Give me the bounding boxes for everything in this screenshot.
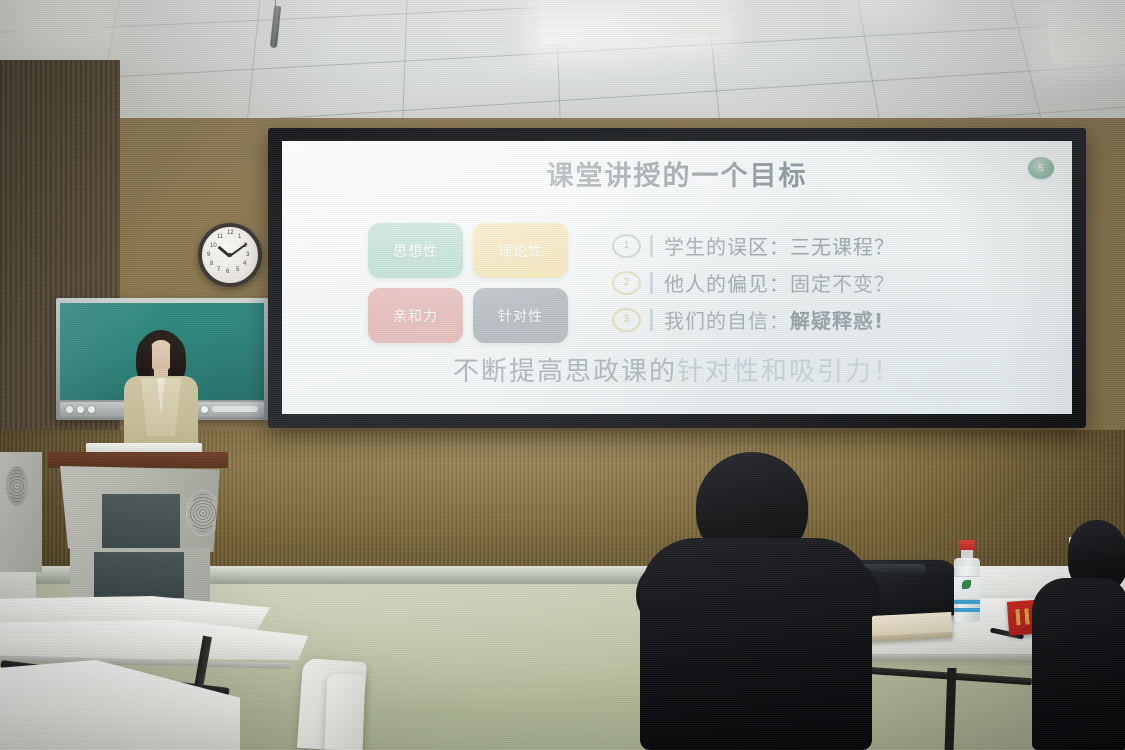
clock-numeral: 10 xyxy=(210,243,217,249)
lectern-body xyxy=(60,466,220,552)
bottle-stripe xyxy=(954,600,980,604)
clock-numeral: 9 xyxy=(207,252,210,258)
clock-numeral: 7 xyxy=(217,267,220,273)
whiteboard-button-icon[interactable] xyxy=(66,406,73,413)
bullet-text: 我们的自信：解疑释惑! xyxy=(664,305,884,334)
slide-bullet-row: 2 他人的偏见：固定不变？ xyxy=(612,264,1022,301)
lectern-front-panel xyxy=(102,494,180,550)
bullet-emphasis: 三无课程？ xyxy=(790,235,895,259)
bullet-emphasis: 解疑释惑! xyxy=(790,309,884,333)
slide-bullet-list: 1 学生的误区：三无课程？ 2 他人的偏见：固定不变？ 3 我们的自信：解疑释惑… xyxy=(612,227,1022,338)
lectern-base-panel xyxy=(94,552,184,598)
bullet-number-badge: 1 xyxy=(612,234,641,258)
keyword-box: 理论性 xyxy=(473,223,568,278)
bullet-prefix: 他人的偏见： xyxy=(664,272,790,296)
classroom-photo: 12 1 2 3 4 5 6 7 8 9 10 11 xyxy=(0,0,1125,750)
student-desk xyxy=(0,620,308,660)
whiteboard-button-icon[interactable] xyxy=(77,406,84,413)
whiteboard-buttons-left[interactable] xyxy=(66,406,95,413)
lectern-side-column xyxy=(0,452,42,572)
keyword-box: 亲和力 xyxy=(368,288,463,343)
clock-numeral: 6 xyxy=(226,269,229,275)
projection-screen-frame: 课堂讲授的一个目标 5 思想性 理论性 亲和力 针对性 xyxy=(268,128,1086,428)
clock-numeral: 3 xyxy=(246,252,249,258)
speaker-grille-icon xyxy=(186,490,220,536)
bullet-text: 他人的偏见：固定不变？ xyxy=(664,268,895,297)
water-bottle xyxy=(953,540,981,622)
seated-attendee-center xyxy=(636,452,876,750)
keyword-box: 思想性 xyxy=(368,223,463,278)
attendee-suit xyxy=(1032,578,1125,750)
slide-bullet-row: 1 学生的误区：三无课程？ xyxy=(612,227,1022,264)
clock-numeral: 12 xyxy=(227,230,234,236)
slide-title: 课堂讲授的一个目标 xyxy=(282,154,1072,193)
keyword-box-label: 亲和力 xyxy=(393,306,438,326)
bullet-prefix: 学生的误区： xyxy=(664,235,790,259)
keyword-box-label: 理论性 xyxy=(498,241,543,261)
clock-minute-hand xyxy=(229,243,247,257)
desk-surface xyxy=(0,620,308,660)
slide-page-badge: 5 xyxy=(1028,157,1054,179)
notebook xyxy=(867,612,952,642)
bullet-text: 学生的误区：三无课程？ xyxy=(664,231,895,260)
clock-numeral: 11 xyxy=(217,234,223,240)
leaf-icon xyxy=(962,580,971,589)
clock-numeral: 5 xyxy=(236,267,239,273)
keyword-box: 针对性 xyxy=(473,288,568,343)
whiteboard-button-icon[interactable] xyxy=(88,406,95,413)
slide-footer-text: 不断提高思政课的针对性和吸引力！ xyxy=(282,351,1072,388)
bullet-number-badge: 2 xyxy=(612,271,641,295)
seated-attendee-right xyxy=(1028,520,1125,750)
student-desk xyxy=(0,660,240,750)
slide-keyword-boxes: 思想性 理论性 亲和力 针对性 xyxy=(368,223,568,343)
lectern-wood-top xyxy=(48,452,228,468)
bottle-stripe xyxy=(954,608,980,612)
clock-numeral: 1 xyxy=(238,234,241,240)
lectern-base xyxy=(70,548,210,602)
clock-center-pin xyxy=(228,253,232,257)
bullet-prefix: 我们的自信： xyxy=(664,309,790,333)
whiteboard-brand-label xyxy=(212,406,258,412)
clock-numeral: 8 xyxy=(210,261,213,267)
wall-clock: 12 1 2 3 4 5 6 7 8 9 10 11 xyxy=(198,223,262,287)
bullet-divider xyxy=(650,272,653,294)
bullet-number-badge: 3 xyxy=(612,308,641,332)
chair-back xyxy=(325,673,366,750)
keyword-box-label: 针对性 xyxy=(498,306,543,326)
lectern xyxy=(38,452,234,602)
keyword-box-label: 思想性 xyxy=(393,241,438,261)
clock-numeral: 4 xyxy=(243,261,246,267)
slide-footer-highlight: 针对性和吸引力！ xyxy=(677,357,901,387)
bullet-emphasis: 固定不变？ xyxy=(790,272,895,296)
attendee-suit xyxy=(640,538,872,750)
bullet-divider xyxy=(650,309,653,331)
slide-footer-plain: 不断提高思政课的 xyxy=(453,357,677,387)
speaker-grille-icon xyxy=(6,466,28,506)
projection-screen[interactable]: 课堂讲授的一个目标 5 思想性 理论性 亲和力 针对性 xyxy=(282,141,1072,414)
bullet-divider xyxy=(650,235,653,257)
desk-surface xyxy=(0,660,240,750)
slide-bullet-row: 3 我们的自信：解疑释惑! xyxy=(612,301,1022,338)
presentation-slide: 课堂讲授的一个目标 5 思想性 理论性 亲和力 针对性 xyxy=(282,141,1072,414)
